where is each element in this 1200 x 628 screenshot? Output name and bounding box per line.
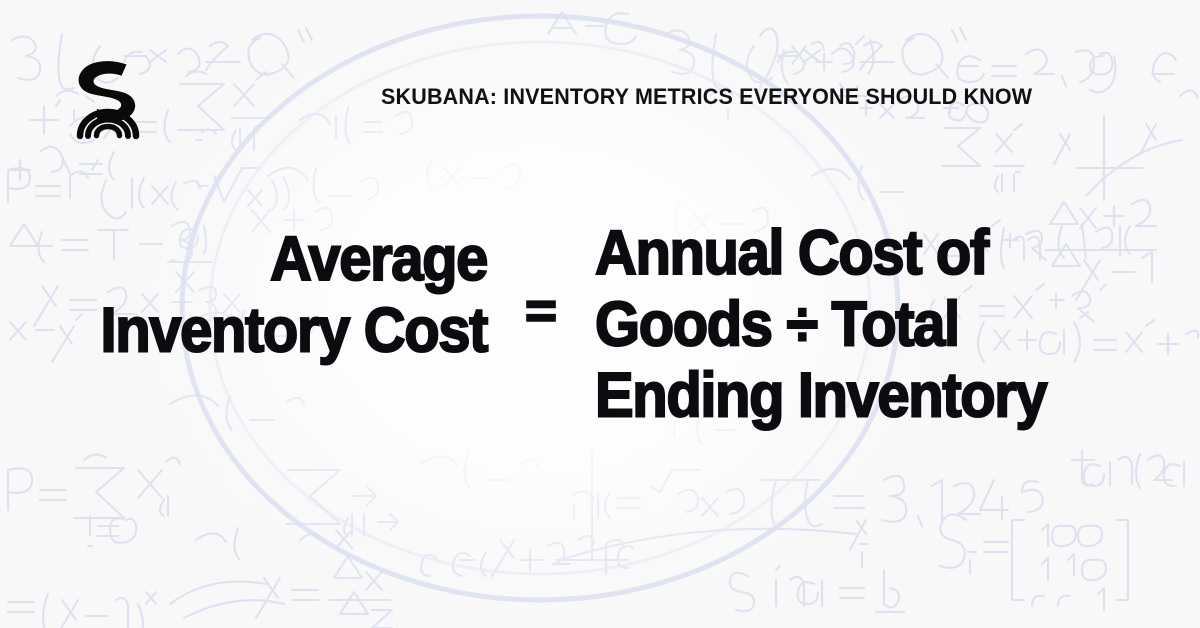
formula-denominator: Annual Cost of Goods ÷ Total Ending Inve… — [595, 218, 1095, 416]
page-title: SKUBANA: INVENTORY METRICS EVERYONE SHOU… — [381, 84, 1032, 110]
formula-numerator: Average Inventory Cost — [0, 218, 487, 356]
formula-container: Average Inventory Cost = Annual Cost of … — [0, 218, 1200, 416]
skubana-s-swirl-logo — [66, 56, 152, 146]
numerator-line-2: Inventory Cost — [0, 295, 487, 366]
equals-sign: = — [525, 286, 557, 336]
infographic-canvas: SKUBANA: INVENTORY METRICS EVERYONE SHOU… — [0, 0, 1200, 628]
denominator-line-1: Annual Cost of — [595, 218, 1095, 289]
denominator-line-3: Ending Inventory — [595, 361, 1095, 432]
numerator-line-1: Average — [0, 224, 487, 295]
formula-operator-wrap: = — [487, 218, 595, 338]
denominator-line-2: Goods ÷ Total — [595, 289, 1095, 360]
